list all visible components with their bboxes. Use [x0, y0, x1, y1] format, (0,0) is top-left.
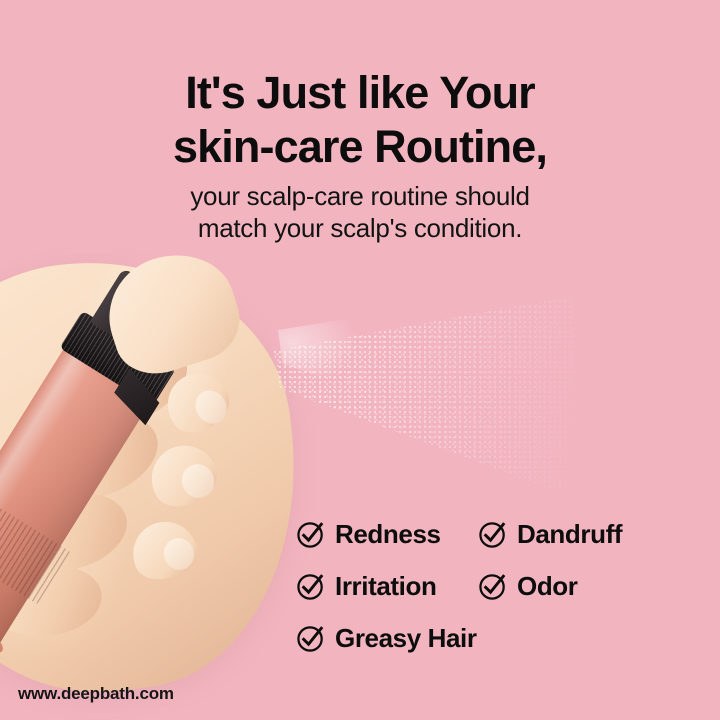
website-url[interactable]: www.deepbath.com — [18, 684, 174, 704]
checklist-item-greasy-hair[interactable]: Greasy Hair — [296, 623, 478, 654]
checklist-row: Redness Dandruff — [296, 508, 696, 560]
circle-check-icon — [296, 623, 326, 653]
checklist-label: Redness — [335, 519, 441, 550]
checklist-item-irritation[interactable]: Irritation — [296, 571, 478, 602]
circle-check-icon — [296, 519, 326, 549]
promo-poster: PET It's Just like Your skin-care Routin… — [0, 0, 720, 720]
headline-line-2: skin-care Routine, — [0, 120, 720, 174]
headline-line-1: It's Just like Your — [0, 66, 720, 120]
checklist-label: Greasy Hair — [335, 623, 477, 654]
circle-check-icon — [296, 571, 326, 601]
pet-recycle-icon: PET — [0, 580, 7, 623]
checklist-item-odor[interactable]: Odor — [478, 571, 578, 602]
checklist-item-redness[interactable]: Redness — [296, 519, 478, 550]
checklist-row: Irritation Odor — [296, 560, 696, 612]
subheading-line-2: match your scalp's condition. — [0, 212, 720, 244]
circle-check-icon — [478, 519, 508, 549]
checklist-row: Greasy Hair — [296, 612, 696, 664]
checklist-label: Dandruff — [517, 519, 622, 550]
benefits-checklist: Redness Dandruff Irritation — [296, 508, 696, 664]
subheading-line-1: your scalp-care routine should — [0, 180, 720, 212]
checklist-label: Odor — [517, 571, 578, 602]
heading-block: It's Just like Your skin-care Routine, y… — [0, 66, 720, 244]
checklist-label: Irritation — [335, 571, 436, 602]
recycle-triangle-icon — [0, 585, 6, 625]
checklist-item-dandruff[interactable]: Dandruff — [478, 519, 622, 550]
circle-check-icon — [478, 571, 508, 601]
